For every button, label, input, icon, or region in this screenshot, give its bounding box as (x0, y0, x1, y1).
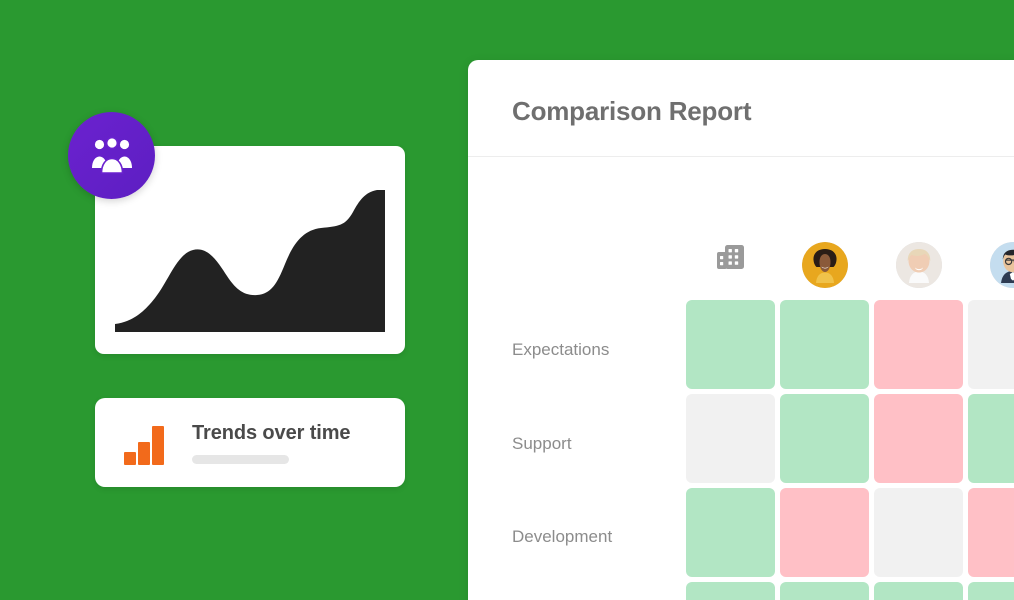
matrix-cell[interactable] (874, 300, 963, 389)
row-label-development: Development (512, 527, 612, 547)
matrix-cell[interactable] (968, 394, 1014, 483)
matrix-cell[interactable] (874, 582, 963, 600)
area-chart-preview (115, 168, 385, 332)
matrix-cell[interactable] (968, 300, 1014, 389)
comparison-matrix: Expectations Support Development Purpose (468, 60, 1014, 600)
bar-chart-icon (122, 420, 168, 466)
matrix-cell[interactable] (780, 488, 869, 577)
row-label-expectations: Expectations (512, 340, 609, 360)
matrix-cell[interactable] (780, 582, 869, 600)
matrix-cell[interactable] (686, 300, 775, 389)
matrix-cell[interactable] (686, 582, 775, 600)
people-group-icon (88, 132, 136, 180)
matrix-cell[interactable] (968, 582, 1014, 600)
trends-card-title: Trends over time (192, 422, 350, 444)
matrix-cell[interactable] (686, 394, 775, 483)
matrix-cell[interactable] (874, 394, 963, 483)
row-label-support: Support (512, 434, 572, 454)
trends-over-time-card[interactable]: Trends over time (95, 398, 405, 487)
matrix-cell[interactable] (968, 488, 1014, 577)
comparison-report-card: Comparison Report (468, 60, 1014, 600)
matrix-cell[interactable] (874, 488, 963, 577)
trends-text-block: Trends over time (192, 422, 350, 464)
left-promo-panel: Trends over time (0, 0, 468, 600)
matrix-cell[interactable] (780, 394, 869, 483)
people-group-logo (68, 112, 155, 199)
matrix-cell[interactable] (780, 300, 869, 389)
screenshot-root: Trends over time Comparison Report (0, 0, 1014, 600)
matrix-cell[interactable] (686, 488, 775, 577)
trends-subtitle-placeholder (192, 455, 289, 464)
